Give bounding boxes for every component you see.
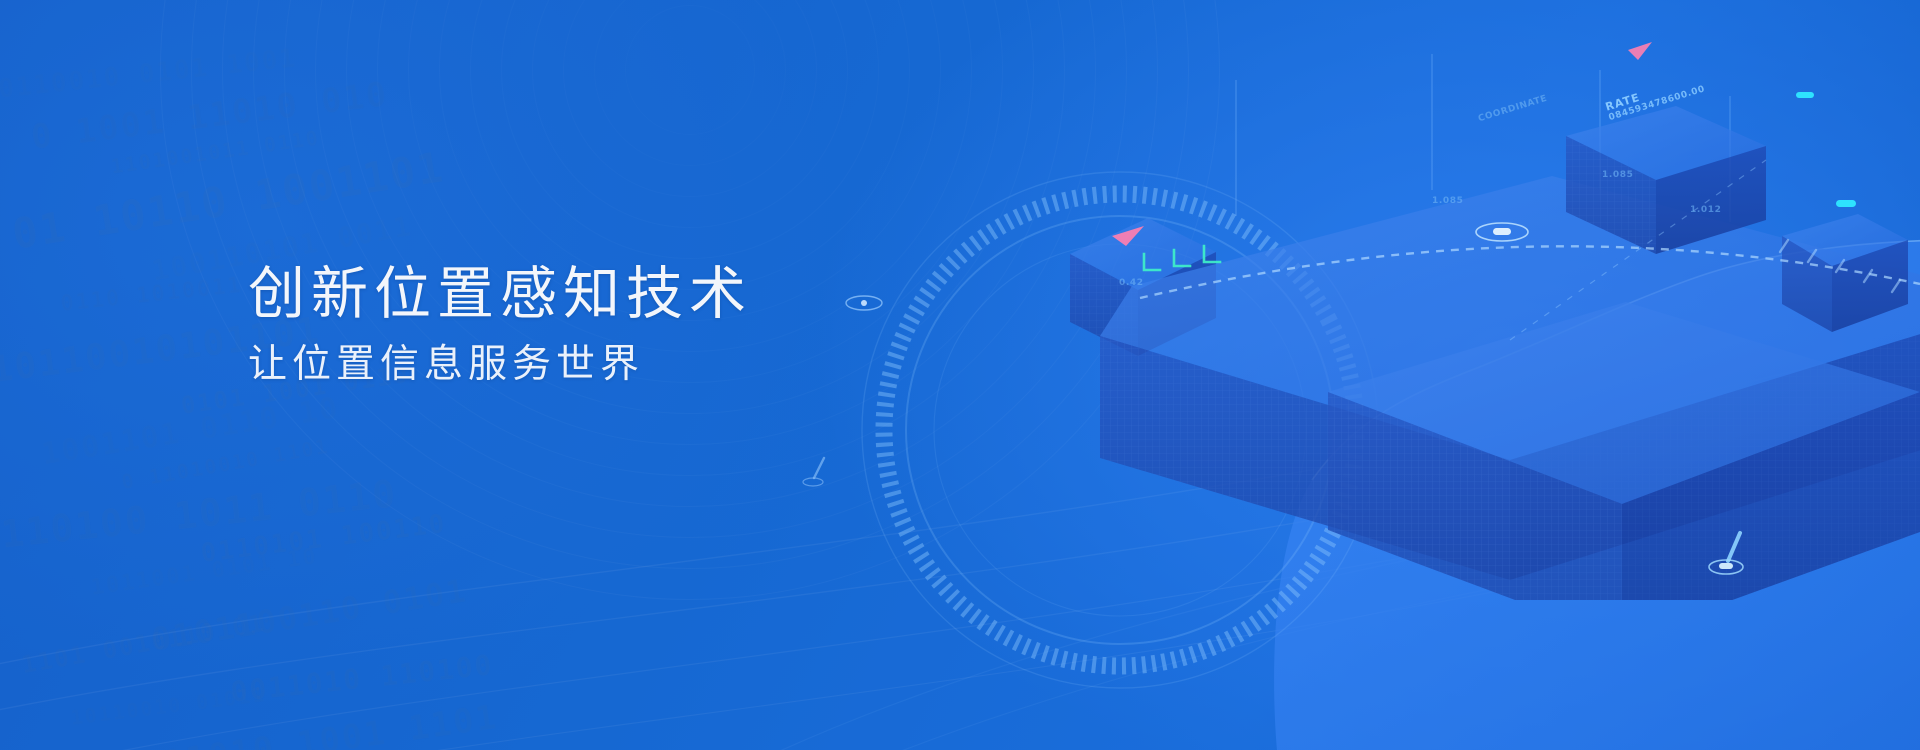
hero-banner: 10110010 0101 10010 1001 11010 010110100… [0, 0, 1920, 750]
binary-row: 0011010 110100 [229, 648, 495, 708]
page-subtitle: 让位置信息服务世界 [248, 343, 752, 388]
hero-copy-block: 创新位置感知技术 让位置信息服务世界 [248, 262, 752, 388]
binary-row: 10110010 01011 [69, 682, 267, 730]
page-title: 创新位置感知技术 [248, 262, 752, 327]
